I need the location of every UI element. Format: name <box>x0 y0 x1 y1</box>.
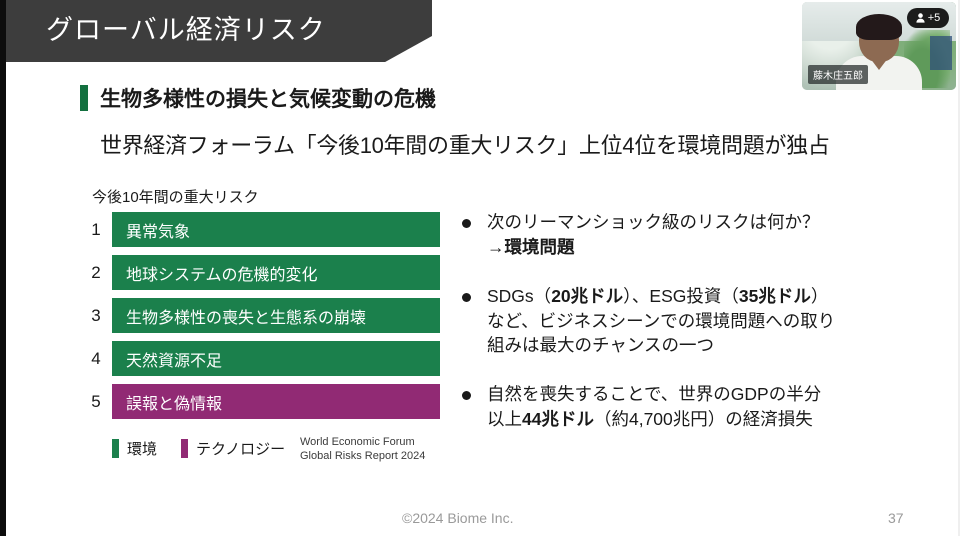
presentation-slide: グローバル経済リスク 生物多様性の損失と気候変動の危機 世界経済フォーラム「今後… <box>0 0 960 536</box>
bullet-item: 自然を喪失することで、世界のGDPの半分以上44兆ドル（約4,700兆円）の経済… <box>462 382 902 432</box>
bullet-span: など、ビジネスシーンでの環境問題への取り <box>487 311 835 331</box>
bullet-dot-icon <box>462 391 471 400</box>
bullet-line: 自然を喪失することで、世界のGDPの半分 <box>487 382 821 407</box>
bullet-text: 自然を喪失することで、世界のGDPの半分以上44兆ドル（約4,700兆円）の経済… <box>487 382 821 432</box>
bullet-emphasis: 44兆ドル <box>522 409 594 429</box>
chart-bar: 誤報と偽情報 <box>112 384 440 419</box>
bullet-text: SDGs（20兆ドル）、ESG投資（35兆ドル）など、ビジネスシーンでの環境問題… <box>487 284 835 359</box>
chart-bar: 地球システムの危機的変化 <box>112 255 440 290</box>
bullet-line: など、ビジネスシーンでの環境問題への取り <box>487 309 835 334</box>
chart-source: World Economic Forum Global Risks Report… <box>300 436 425 464</box>
legend-label: 環境 <box>127 438 157 459</box>
bullet-line: 組みは最大のチャンスの一つ <box>487 333 835 358</box>
participant-count-badge[interactable]: +5 <box>907 8 949 28</box>
risk-ranking-chart: 1異常気象2地球システムの危機的変化3生物多様性の喪失と生態系の崩壊4天然資源不… <box>80 212 440 427</box>
chart-row: 4天然資源不足 <box>80 341 440 376</box>
bullet-dot-icon <box>462 293 471 302</box>
bullet-span: → <box>487 237 505 257</box>
chart-row: 1異常気象 <box>80 212 440 247</box>
chart-row: 3生物多様性の喪失と生態系の崩壊 <box>80 298 440 333</box>
slide-title: グローバル経済リスク <box>46 8 326 47</box>
chart-bar: 異常気象 <box>112 212 440 247</box>
subheading-secondary: 世界経済フォーラム「今後10年間の重大リスク」上位4位を環境問題が独占 <box>100 128 830 160</box>
chart-bar: 天然資源不足 <box>112 341 440 376</box>
footer-copyright: ©2024 Biome Inc. <box>402 510 514 526</box>
chart-title: 今後10年間の重大リスク <box>92 186 259 207</box>
bullet-span: （約4,700兆円）の経済損失 <box>594 409 813 429</box>
bullet-dot-icon <box>462 219 471 228</box>
bullet-span: 次のリーマンショック級のリスクは何か？ <box>487 212 820 232</box>
chart-rank-number: 2 <box>80 263 112 283</box>
wall-poster <box>930 36 952 70</box>
legend-label: テクノロジー <box>196 438 285 459</box>
chart-rank-number: 1 <box>80 220 112 240</box>
heading-accent-bar <box>80 85 88 111</box>
legend-swatch <box>181 439 188 458</box>
chart-rank-number: 3 <box>80 306 112 326</box>
bullet-line: →環境問題 <box>487 235 820 260</box>
footer-page-number: 37 <box>888 510 904 526</box>
bullet-list: 次のリーマンショック級のリスクは何か？→環境問題SDGs（20兆ドル）、ESG投… <box>462 210 902 456</box>
slide-left-edge <box>0 0 6 536</box>
bullet-span: 以上 <box>487 409 522 429</box>
legend-swatch <box>112 439 119 458</box>
chart-row: 5誤報と偽情報 <box>80 384 440 419</box>
bullet-span: ）、ESG投資（ <box>623 286 739 306</box>
chart-source-line1: World Economic Forum <box>300 436 425 450</box>
chart-row: 2地球システムの危機的変化 <box>80 255 440 290</box>
chart-bar: 生物多様性の喪失と生態系の崩壊 <box>112 298 440 333</box>
chart-legend: 環境テクノロジー <box>112 438 309 459</box>
bullet-line: 次のリーマンショック級のリスクは何か？ <box>487 210 820 235</box>
participant-count-label: +5 <box>928 12 941 24</box>
bullet-span: ） <box>811 286 829 306</box>
bullet-item: SDGs（20兆ドル）、ESG投資（35兆ドル）など、ビジネスシーンでの環境問題… <box>462 284 902 359</box>
bullet-span: SDGs（ <box>487 286 551 306</box>
participant-name-label: 藤木庄五郎 <box>808 65 868 84</box>
bullet-text: 次のリーマンショック級のリスクは何か？→環境問題 <box>487 210 820 260</box>
chart-rank-number: 4 <box>80 349 112 369</box>
person-hair <box>856 14 902 40</box>
bullet-emphasis: 環境問題 <box>505 237 575 257</box>
person-icon <box>916 13 925 23</box>
bullet-span: 自然を喪失することで、世界のGDPの半分 <box>487 384 821 404</box>
subheading-primary: 生物多様性の損失と気候変動の危機 <box>100 83 436 113</box>
bullet-line: SDGs（20兆ドル）、ESG投資（35兆ドル） <box>487 284 835 309</box>
bullet-line: 以上44兆ドル（約4,700兆円）の経済損失 <box>487 407 821 432</box>
bullet-span: 組みは最大のチャンスの一つ <box>487 335 714 355</box>
bullet-emphasis: 20兆ドル <box>551 286 623 306</box>
chart-source-line2: Global Risks Report 2024 <box>300 450 425 464</box>
bullet-item: 次のリーマンショック級のリスクは何か？→環境問題 <box>462 210 902 260</box>
chart-rank-number: 5 <box>80 392 112 412</box>
video-participant-tile[interactable]: 藤木庄五郎 +5 <box>800 0 958 92</box>
bullet-emphasis: 35兆ドル <box>739 286 811 306</box>
